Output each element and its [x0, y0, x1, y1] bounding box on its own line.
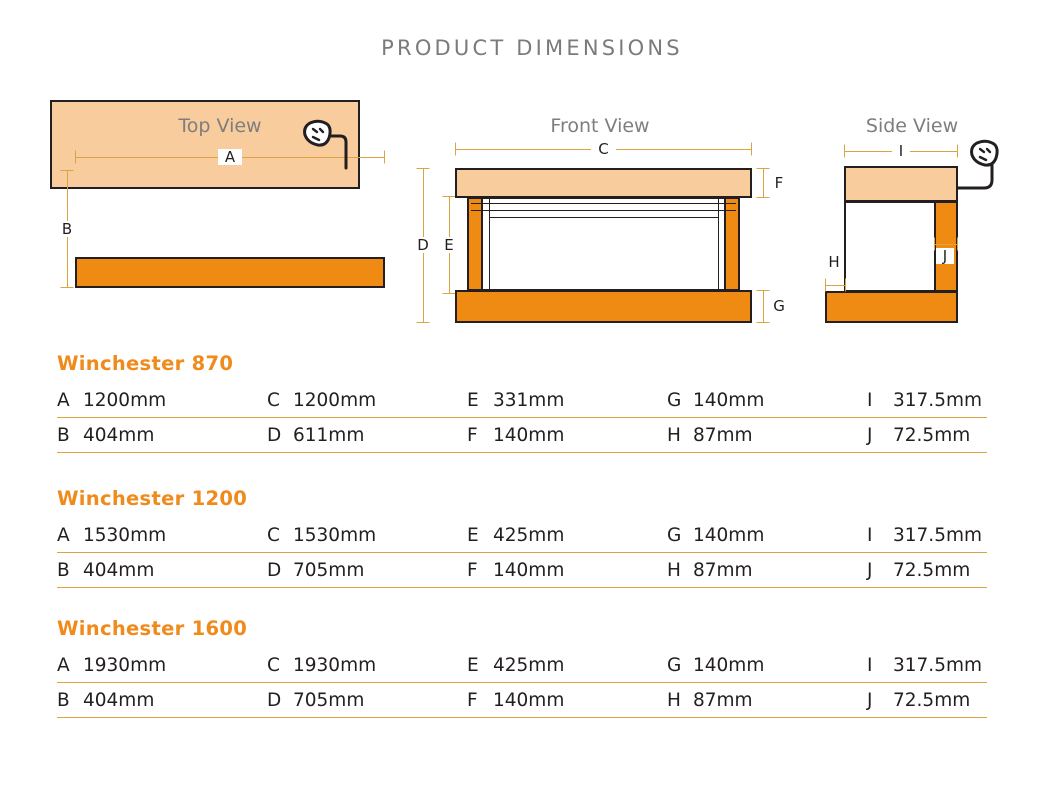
spec-key: G [667, 525, 693, 546]
spec-cell-a: A 1930mm [57, 655, 267, 676]
front-view-right-leg [724, 197, 740, 291]
table-row: A 1200mm C 1200mm E 331mm G 140mm I 317.… [57, 383, 987, 418]
spec-value: 140mm [693, 525, 764, 546]
dimension-a-label: A [218, 149, 242, 165]
spec-value: 72.5mm [893, 425, 970, 446]
spec-key: B [57, 425, 83, 446]
spec-key: C [267, 655, 293, 676]
front-view-title: Front View [535, 115, 665, 137]
spec-value: 1200mm [83, 390, 166, 411]
power-plug-icon [950, 126, 1040, 196]
spec-value: 317.5mm [893, 525, 982, 546]
table-row: B 404mm D 705mm F 140mm H 87mm J 72.5mm [57, 683, 987, 718]
spec-cell-b: B 404mm [57, 560, 267, 581]
spec-key: A [57, 655, 83, 676]
top-view-front-band [75, 257, 385, 288]
dimension-d: D [415, 168, 431, 323]
spec-value: 140mm [493, 690, 564, 711]
spec-cell-i: I 317.5mm [867, 525, 987, 546]
spec-key: I [867, 655, 893, 676]
front-view: Front View C D E F [405, 100, 795, 350]
spec-key: E [467, 390, 493, 411]
spec-cell-j: J 72.5mm [867, 690, 987, 711]
spec-cell-d: D 705mm [267, 560, 467, 581]
front-view-left-leg [467, 197, 483, 291]
front-view-base [455, 290, 752, 323]
spec-cell-d: D 705mm [267, 690, 467, 711]
dimension-c: C [455, 141, 752, 157]
spec-cell-f: F 140mm [467, 425, 667, 446]
dimension-f [755, 168, 771, 198]
spec-value: 72.5mm [893, 690, 970, 711]
spec-value: 705mm [293, 690, 364, 711]
dimension-g [755, 290, 771, 323]
spec-cell-b: B 404mm [57, 425, 267, 446]
spec-cell-i: I 317.5mm [867, 655, 987, 676]
dimension-i-label: I [892, 143, 910, 159]
top-view: Top View A B [50, 100, 390, 350]
dimension-g-label: G [771, 298, 787, 314]
spec-key: D [267, 690, 293, 711]
table-row: A 1930mm C 1930mm E 425mm G 140mm I 317.… [57, 648, 987, 683]
spec-key: E [467, 655, 493, 676]
dimension-c-label: C [591, 141, 616, 157]
spec-cell-a: A 1200mm [57, 390, 267, 411]
page-title: PRODUCT DIMENSIONS [0, 36, 1064, 60]
spec-cell-d: D 611mm [267, 425, 467, 446]
spec-value: 404mm [83, 690, 154, 711]
spec-table-winchester-1200: Winchester 1200 A 1530mm C 1530mm E 425m… [57, 487, 987, 588]
dimension-e-label: E [441, 237, 457, 253]
spec-cell-j: J 72.5mm [867, 425, 987, 446]
spec-value: 87mm [693, 690, 753, 711]
dimension-e: E [441, 196, 457, 294]
diagram-area: Top View A B [0, 100, 1064, 350]
spec-cell-f: F 140mm [467, 690, 667, 711]
dimension-h-label: H [825, 254, 843, 270]
spec-cell-c: C 1200mm [267, 390, 467, 411]
spec-value: 140mm [693, 655, 764, 676]
spec-value: 425mm [493, 655, 564, 676]
spec-cell-j: J 72.5mm [867, 560, 987, 581]
spec-cell-e: E 425mm [467, 525, 667, 546]
spec-key: E [467, 525, 493, 546]
side-view-top-slab [844, 166, 958, 202]
spec-value: 404mm [83, 560, 154, 581]
dimension-b: B [59, 170, 75, 288]
spec-key: J [867, 560, 893, 581]
front-view-inner-frame-left [489, 199, 490, 289]
spec-cell-e: E 331mm [467, 390, 667, 411]
spec-key: I [867, 390, 893, 411]
spec-key: H [667, 560, 693, 581]
spec-key: F [467, 690, 493, 711]
spec-value: 404mm [83, 425, 154, 446]
spec-key: A [57, 525, 83, 546]
front-view-opening [467, 197, 740, 291]
front-view-inner-frame-top-1 [471, 203, 736, 204]
table-row: B 404mm D 705mm F 140mm H 87mm J 72.5mm [57, 553, 987, 588]
spec-cell-i: I 317.5mm [867, 390, 987, 411]
spec-cell-e: E 425mm [467, 655, 667, 676]
spec-value: 140mm [693, 390, 764, 411]
dimension-i: I [844, 143, 958, 159]
spec-key: G [667, 390, 693, 411]
spec-cell-a: A 1530mm [57, 525, 267, 546]
top-view-title: Top View [165, 115, 275, 137]
dimension-h [825, 277, 846, 293]
spec-key: J [867, 425, 893, 446]
spec-value: 425mm [493, 525, 564, 546]
spec-cell-f: F 140mm [467, 560, 667, 581]
spec-key: G [667, 655, 693, 676]
spec-key: D [267, 425, 293, 446]
spec-key: F [467, 560, 493, 581]
dimension-d-label: D [415, 237, 431, 253]
spec-table-winchester-870: Winchester 870 A 1200mm C 1200mm E 331mm… [57, 352, 987, 453]
spec-cell-c: C 1930mm [267, 655, 467, 676]
spec-value: 140mm [493, 425, 564, 446]
spec-key: H [667, 425, 693, 446]
spec-key: J [867, 690, 893, 711]
spec-cell-h: H 87mm [667, 560, 867, 581]
spec-key: C [267, 390, 293, 411]
spec-value: 611mm [293, 425, 364, 446]
spec-key: B [57, 560, 83, 581]
model-title: Winchester 870 [57, 352, 987, 375]
dimension-j-label: J [936, 248, 954, 264]
spec-value: 317.5mm [893, 655, 982, 676]
side-view-base [825, 291, 958, 323]
spec-cell-c: C 1530mm [267, 525, 467, 546]
spec-value: 87mm [693, 560, 753, 581]
spec-cell-g: G 140mm [667, 525, 867, 546]
front-view-inner-frame-top-2 [471, 210, 736, 211]
spec-value: 1930mm [293, 655, 376, 676]
spec-cell-g: G 140mm [667, 390, 867, 411]
spec-cell-g: G 140mm [667, 655, 867, 676]
spec-key: F [467, 425, 493, 446]
spec-key: H [667, 690, 693, 711]
table-row: B 404mm D 611mm F 140mm H 87mm J 72.5mm [57, 418, 987, 453]
front-view-inner-frame-top-3 [489, 217, 718, 218]
spec-value: 140mm [493, 560, 564, 581]
spec-value: 1530mm [83, 525, 166, 546]
spec-table-winchester-1600: Winchester 1600 A 1930mm C 1930mm E 425m… [57, 617, 987, 718]
spec-key: A [57, 390, 83, 411]
dimension-b-label: B [59, 221, 75, 237]
spec-key: I [867, 525, 893, 546]
model-title: Winchester 1200 [57, 487, 987, 510]
spec-value: 331mm [493, 390, 564, 411]
spec-key: C [267, 525, 293, 546]
spec-value: 1530mm [293, 525, 376, 546]
front-view-mantel [455, 168, 752, 198]
spec-cell-h: H 87mm [667, 425, 867, 446]
spec-value: 705mm [293, 560, 364, 581]
model-title: Winchester 1600 [57, 617, 987, 640]
spec-value: 87mm [693, 425, 753, 446]
spec-value: 1200mm [293, 390, 376, 411]
spec-value: 72.5mm [893, 560, 970, 581]
dimension-f-label: F [771, 175, 787, 191]
side-view: Side View I H J [820, 100, 1040, 350]
spec-cell-h: H 87mm [667, 690, 867, 711]
front-view-inner-frame-right [718, 199, 719, 289]
table-row: A 1530mm C 1530mm E 425mm G 140mm I 317.… [57, 518, 987, 553]
spec-key: B [57, 690, 83, 711]
power-plug-icon [286, 116, 381, 176]
spec-cell-b: B 404mm [57, 690, 267, 711]
spec-value: 1930mm [83, 655, 166, 676]
spec-value: 317.5mm [893, 390, 982, 411]
spec-key: D [267, 560, 293, 581]
